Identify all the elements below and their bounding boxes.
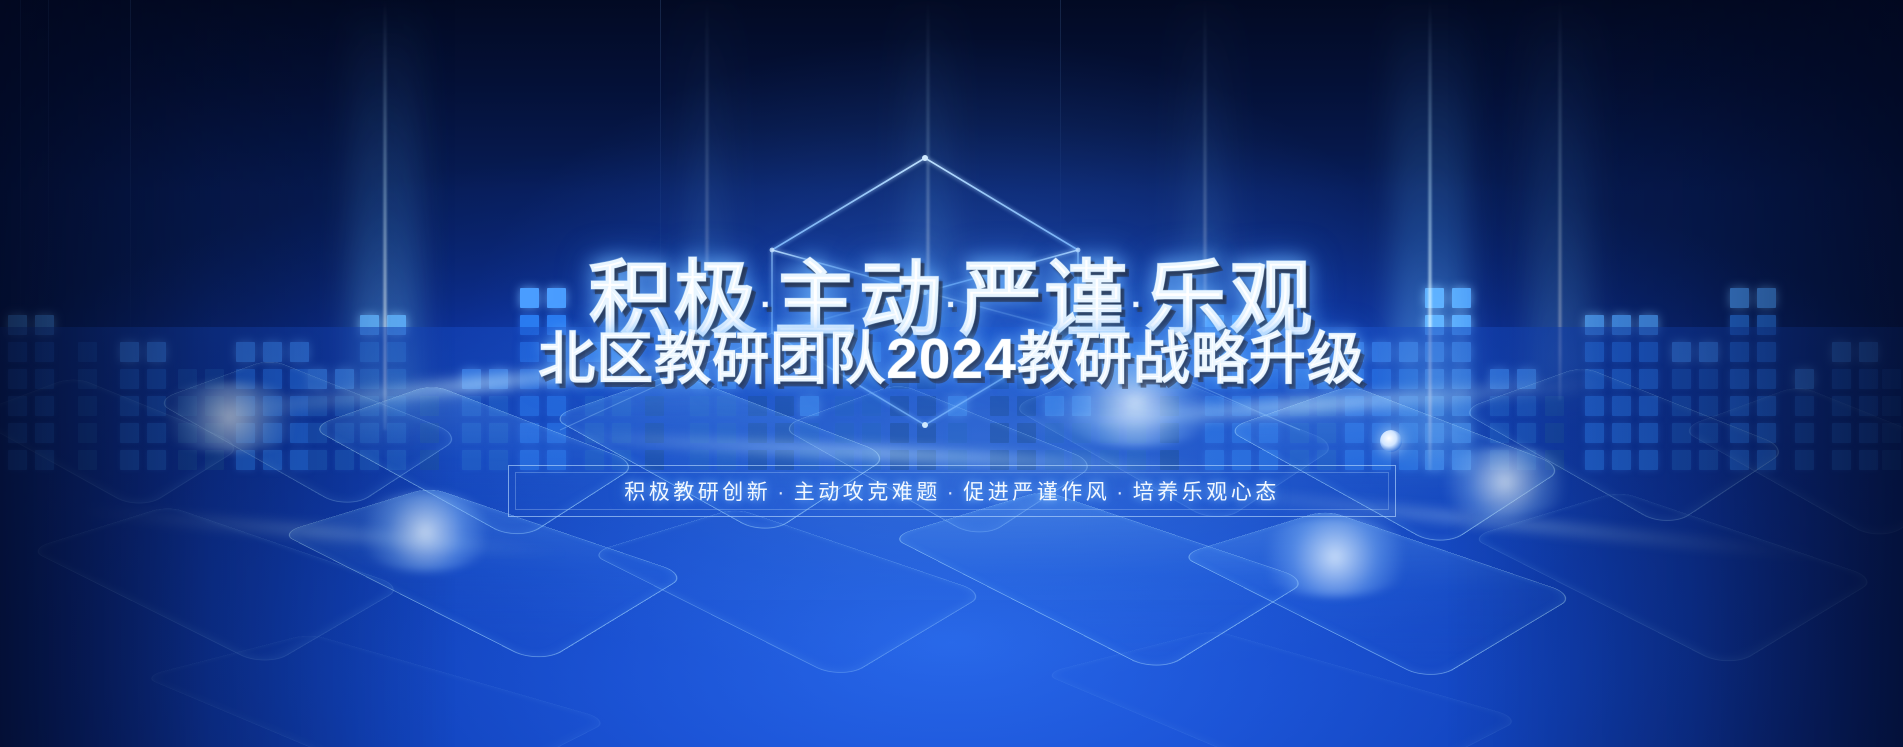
tagline-item: 主动攻克难题 xyxy=(794,481,941,504)
tagline-text: 积极教研创新·主动攻克难题·促进严谨作风·培养乐观心态 xyxy=(624,476,1280,506)
tagline-separator-dot: · xyxy=(1116,481,1127,504)
tagline-item: 积极教研创新 xyxy=(624,481,771,504)
tagline-frame: 积极教研创新·主动攻克难题·促进严谨作风·培养乐观心态 xyxy=(508,465,1396,517)
banner-content: 积极·主动·严谨·乐观 北区教研团队2024教研战略升级 积极教研创新·主动攻克… xyxy=(0,0,1903,747)
tagline-item: 培养乐观心态 xyxy=(1133,481,1280,504)
tagline-item: 促进严谨作风 xyxy=(963,481,1110,504)
page-title-sub: 北区教研团队2024教研战略升级 xyxy=(0,313,1903,395)
tagline-separator-dot: · xyxy=(947,481,958,504)
tagline-separator-dot: · xyxy=(777,481,788,504)
banner-root: 积极·主动·严谨·乐观 北区教研团队2024教研战略升级 积极教研创新·主动攻克… xyxy=(0,0,1903,747)
